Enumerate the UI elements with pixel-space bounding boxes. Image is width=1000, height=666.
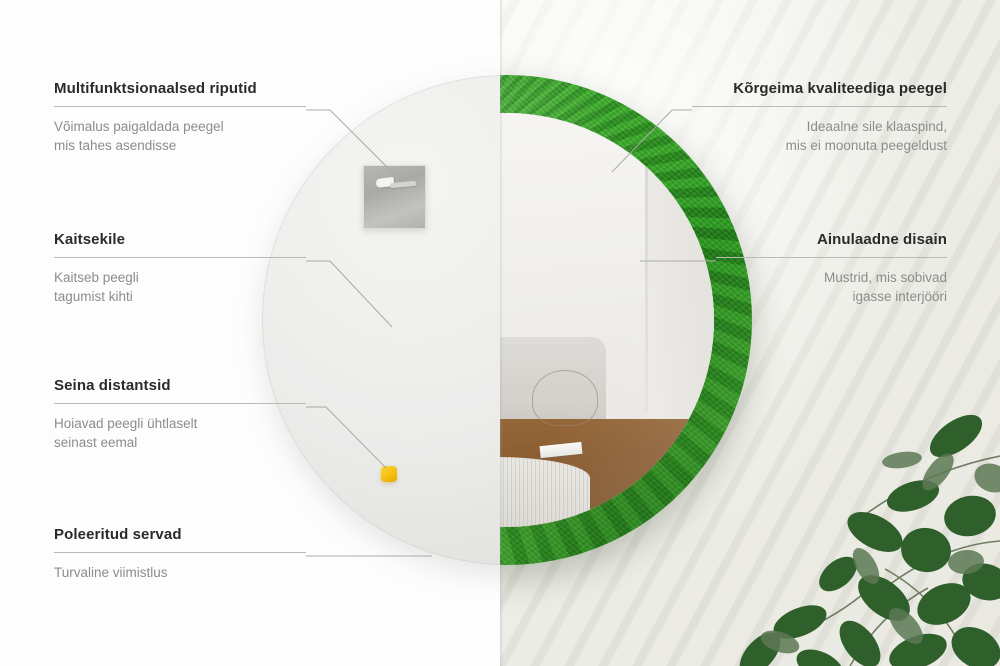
callout-rule [54,257,306,258]
callout-kaitsekile: Kaitsekile Kaitseb peegli tagumist kihti [54,231,306,306]
callout-rule [54,403,306,404]
callout-description: Turvaline viimistlus [54,564,306,583]
leader-line-backing-film [306,261,392,327]
callout-seina-distantsid: Seina distantsid Hoiavad peegli ühtlasel… [54,377,306,452]
callout-rule [692,106,947,107]
callout-title: Ainulaadne disain [716,231,947,248]
callout-title: Poleeritud servad [54,526,306,543]
callout-multifunktsionaalsed-riputid: Multifunktsionaalsed riputid Võimalus pa… [54,80,306,155]
callout-poleeritud-servad: Poleeritud servad Turvaline viimistlus [54,526,306,583]
infographic-stage: Multifunktsionaalsed riputid Võimalus pa… [0,0,1000,666]
callout-description: Mustrid, mis sobivad igasse interjööri [716,269,947,306]
callout-ainulaadne-disain: Ainulaadne disain Mustrid, mis sobivad i… [716,231,947,306]
callout-title: Kõrgeima kvaliteediga peegel [692,80,947,97]
leader-line-hanger [306,110,392,172]
callout-description: Kaitseb peegli tagumist kihti [54,269,306,306]
leader-line-mirror-quality [612,110,692,172]
callout-rule [716,257,947,258]
callout-korgeima-kvaliteediga-peegel: Kõrgeima kvaliteediga peegel Ideaalne si… [692,80,947,155]
callout-description: Võimalus paigaldada peegel mis tahes ase… [54,118,306,155]
callout-description: Ideaalne sile klaaspind, mis ei moonuta … [692,118,947,155]
callout-title: Kaitsekile [54,231,306,248]
callout-title: Seina distantsid [54,377,306,394]
callout-rule [54,552,306,553]
leader-line-wall-spacer [306,407,386,468]
callout-description: Hoiavad peegli ühtlaselt seinast eemal [54,415,306,452]
callout-title: Multifunktsionaalsed riputid [54,80,306,97]
callout-rule [54,106,306,107]
